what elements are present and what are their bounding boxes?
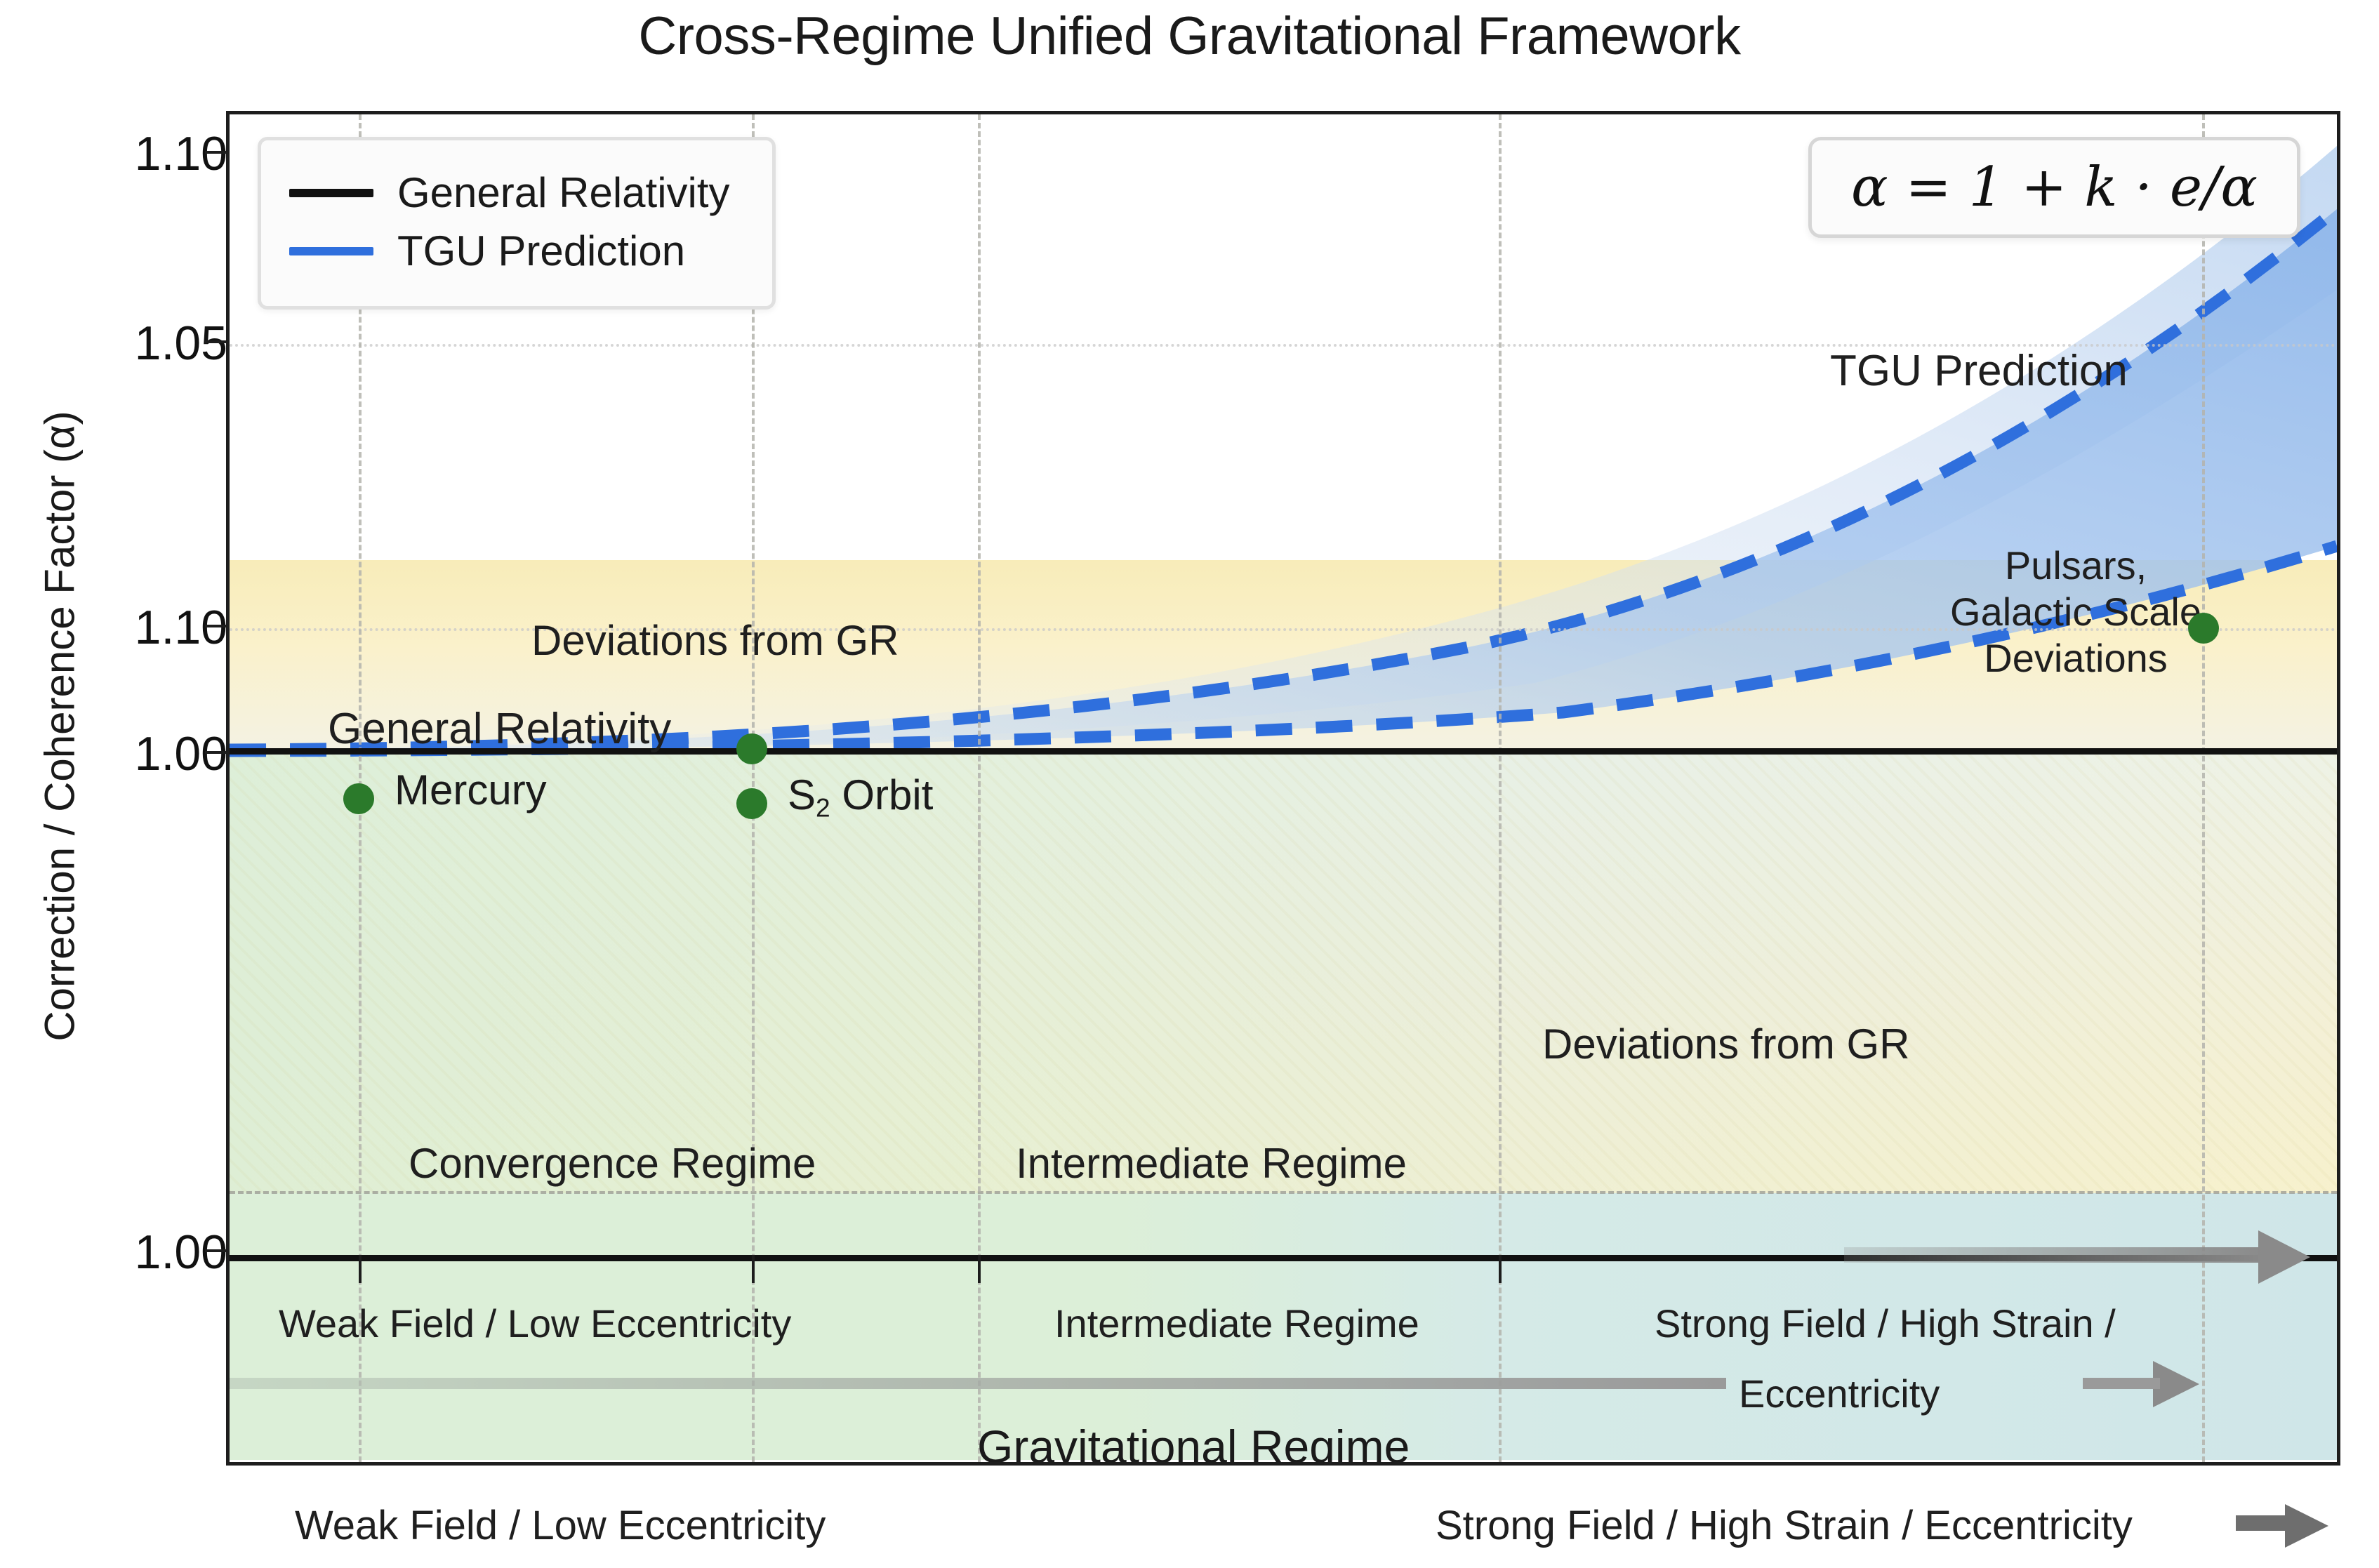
data-point-label-s2-orbit: S2 Orbit	[788, 771, 933, 823]
annotation-pulsars: Pulsars, Galactic Scale Deviations	[1809, 543, 2337, 682]
regime-arrow-icon	[2258, 1230, 2310, 1284]
legend-swatch-line-icon	[289, 247, 373, 255]
regime-arrow-shaft	[1844, 1247, 2265, 1263]
footer-left-label: Weak Field / Low Eccentricity	[295, 1502, 826, 1549]
x-tick-mark	[752, 1255, 755, 1283]
plot-inner: Deviations from GR General Relativity De…	[230, 114, 2337, 1462]
legend-label: TGU Prediction	[397, 227, 685, 275]
gridline-horizontal	[230, 1191, 2337, 1194]
x-tick-mark	[978, 1255, 981, 1283]
data-point-label-mercury: Mercury	[395, 766, 547, 814]
footer-right-label: Strong Field / High Strain / Eccentricit…	[1436, 1502, 2133, 1549]
y-tick-label: 1.05	[17, 316, 227, 371]
eccentricity-arrow-shaft	[230, 1378, 1726, 1389]
y-tick-mark	[205, 151, 226, 154]
data-point-s2-on-gr[interactable]	[736, 733, 767, 764]
legend-item-tgu-prediction[interactable]: TGU Prediction	[289, 227, 730, 275]
page-title: Cross-Regime Unified Gravitational Frame…	[0, 6, 2379, 67]
annotation-pulsars-line1: Pulsars,	[1809, 543, 2337, 589]
annotation-tgu-prediction: TGU Prediction	[1830, 346, 2128, 396]
annotation-convergence-regime: Convergence Regime	[409, 1139, 816, 1188]
data-point-pulsar[interactable]	[2188, 613, 2219, 644]
data-point-mercury[interactable]	[343, 783, 374, 814]
plot-area: Deviations from GR General Relativity De…	[226, 111, 2340, 1466]
x-category-weak-field: Weak Field / Low Eccentricity	[279, 1301, 791, 1346]
y-tick-mark	[205, 1249, 226, 1252]
data-point-s2-orbit[interactable]	[736, 788, 767, 819]
legend[interactable]: General Relativity TGU Prediction	[258, 137, 776, 310]
y-tick-mark	[205, 751, 226, 754]
annotation-pulsars-line3: Deviations	[1809, 635, 2337, 682]
y-tick-mark	[205, 340, 226, 343]
y-tick-label: 1.10	[17, 126, 227, 181]
footer-arrow-shaft	[2236, 1515, 2292, 1531]
annotation-pulsars-line2: Galactic Scale	[1809, 589, 2337, 635]
x-category-intermediate: Intermediate Regime	[1054, 1301, 1419, 1346]
eccentricity-arrow-shaft2	[2083, 1378, 2160, 1389]
x-tick-mark	[1499, 1255, 1502, 1283]
annotation-deviations-upper: Deviations from GR	[531, 616, 899, 665]
legend-item-general-relativity[interactable]: General Relativity	[289, 168, 730, 217]
y-tick-mark	[205, 625, 226, 627]
figure-root: Cross-Regime Unified Gravitational Frame…	[0, 0, 2379, 1568]
x-category-strong-field: Strong Field / High Strain /	[1655, 1301, 2116, 1346]
legend-swatch-line-icon	[289, 189, 373, 197]
annotation-deviations-lower: Deviations from GR	[1542, 1020, 1909, 1068]
y-tick-label: 1.00	[17, 1225, 227, 1280]
x-tick-mark	[359, 1255, 362, 1283]
formula-box: α = 1 + k · e/α	[1808, 137, 2300, 238]
annotation-intermediate-regime: Intermediate Regime	[1016, 1139, 1407, 1188]
y-tick-label: 1.10	[17, 600, 227, 655]
annotation-general-relativity: General Relativity	[328, 704, 671, 754]
x-axis-title: Gravitational Regime	[977, 1420, 1410, 1462]
y-tick-label: 1.00	[17, 726, 227, 781]
x-category-eccentricity: Eccentricity	[1739, 1371, 1940, 1416]
legend-label: General Relativity	[397, 168, 730, 217]
